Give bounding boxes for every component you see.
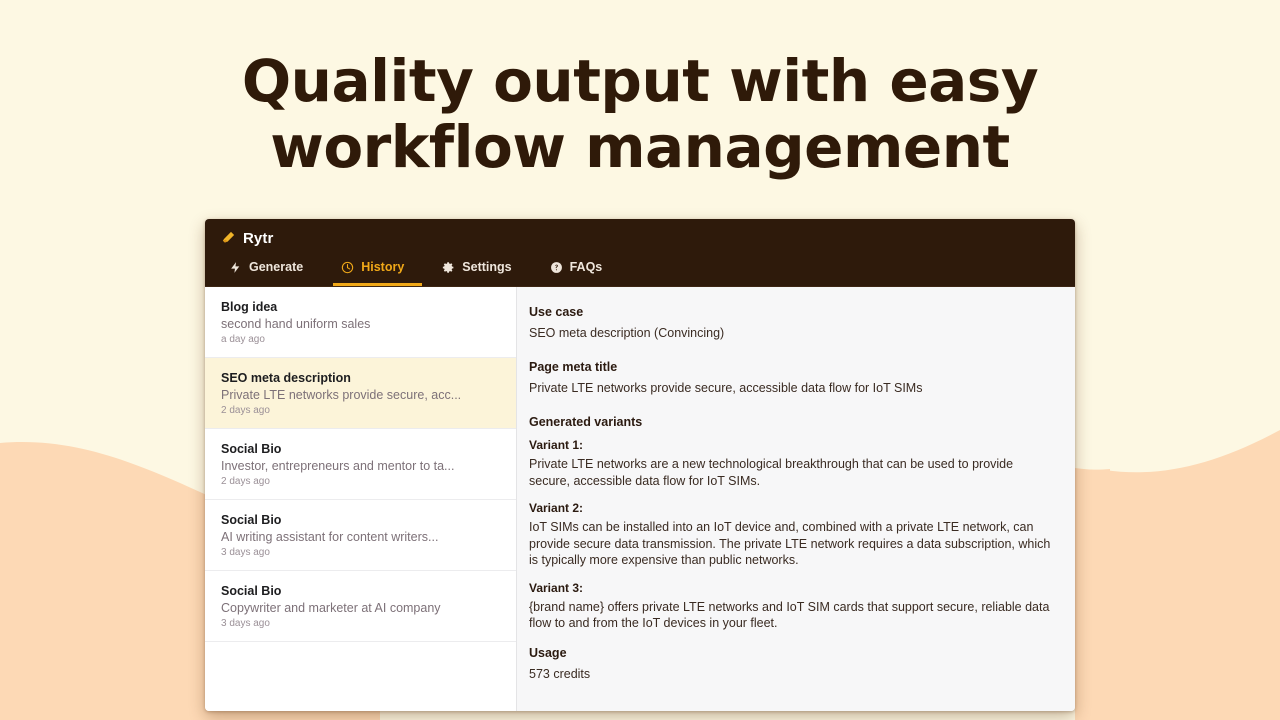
brand[interactable]: Rytr xyxy=(205,219,1075,253)
history-item-title: Social Bio xyxy=(221,442,500,456)
history-list[interactable]: Blog idea second hand uniform sales a da… xyxy=(205,287,517,711)
history-item-snippet: Private LTE networks provide secure, acc… xyxy=(221,388,500,402)
list-item[interactable]: SEO meta description Private LTE network… xyxy=(205,358,516,429)
pen-nib-icon xyxy=(221,230,236,247)
app-body: Blog idea second hand uniform sales a da… xyxy=(205,286,1075,711)
app-topbar: Rytr Generate History xyxy=(205,219,1075,286)
variant-text: Private LTE networks are a new technolog… xyxy=(529,456,1051,489)
history-item-time: 3 days ago xyxy=(221,547,500,558)
history-item-snippet: AI writing assistant for content writers… xyxy=(221,530,500,544)
history-item-time: 3 days ago xyxy=(221,618,500,629)
tab-settings-label: Settings xyxy=(462,260,511,274)
history-item-title: Blog idea xyxy=(221,300,500,314)
list-item[interactable]: Blog idea second hand uniform sales a da… xyxy=(205,287,516,358)
list-item[interactable]: Social Bio Copywriter and marketer at AI… xyxy=(205,571,516,642)
lightning-bolt-icon xyxy=(229,261,242,274)
clock-history-icon xyxy=(341,261,354,274)
app-window: Rytr Generate History xyxy=(205,219,1075,711)
headline-line-2: workflow management xyxy=(0,114,1280,180)
headline-line-1: Quality output with easy xyxy=(0,48,1280,114)
history-item-time: a day ago xyxy=(221,334,500,345)
tab-generate[interactable]: Generate xyxy=(221,253,321,286)
history-item-snippet: Copywriter and marketer at AI company xyxy=(221,601,500,615)
variant-block: Variant 2: IoT SIMs can be installed int… xyxy=(529,501,1051,569)
history-item-snippet: Investor, entrepreneurs and mentor to ta… xyxy=(221,459,500,473)
variant-text: IoT SIMs can be installed into an IoT de… xyxy=(529,519,1051,569)
brand-name: Rytr xyxy=(243,230,273,247)
use-case-value: SEO meta description (Convincing) xyxy=(529,325,1051,342)
list-item[interactable]: Social Bio AI writing assistant for cont… xyxy=(205,500,516,571)
variant-text: {brand name} offers private LTE networks… xyxy=(529,599,1051,632)
use-case-label: Use case xyxy=(529,305,1051,319)
question-circle-icon xyxy=(550,261,563,274)
tab-history[interactable]: History xyxy=(333,253,422,286)
history-item-title: Social Bio xyxy=(221,513,500,527)
page-headline: Quality output with easy workflow manage… xyxy=(0,48,1280,180)
gear-icon xyxy=(442,261,455,274)
history-item-snippet: second hand uniform sales xyxy=(221,317,500,331)
history-detail-panel: Use case SEO meta description (Convincin… xyxy=(517,287,1075,711)
page-meta-title-value: Private LTE networks provide secure, acc… xyxy=(529,380,1051,397)
page-meta-title-label: Page meta title xyxy=(529,360,1051,374)
variant-block: Variant 3: {brand name} offers private L… xyxy=(529,581,1051,632)
list-item[interactable]: Social Bio Investor, entrepreneurs and m… xyxy=(205,429,516,500)
tab-generate-label: Generate xyxy=(249,260,303,274)
history-item-time: 2 days ago xyxy=(221,476,500,487)
tab-history-label: History xyxy=(361,260,404,274)
tab-faqs[interactable]: FAQs xyxy=(542,253,621,286)
usage-value: 573 credits xyxy=(529,666,1051,683)
tab-settings[interactable]: Settings xyxy=(434,253,529,286)
history-item-title: Social Bio xyxy=(221,584,500,598)
variant-label: Variant 1: xyxy=(529,438,1051,452)
history-item-title: SEO meta description xyxy=(221,371,500,385)
tab-faqs-label: FAQs xyxy=(570,260,603,274)
app-nav: Generate History Setti xyxy=(205,253,1075,286)
variant-label: Variant 2: xyxy=(529,501,1051,515)
variant-block: Variant 1: Private LTE networks are a ne… xyxy=(529,438,1051,489)
generated-variants-label: Generated variants xyxy=(529,415,1051,429)
variant-label: Variant 3: xyxy=(529,581,1051,595)
usage-block: Usage 573 credits xyxy=(529,646,1051,683)
usage-label: Usage xyxy=(529,646,1051,660)
history-item-time: 2 days ago xyxy=(221,405,500,416)
